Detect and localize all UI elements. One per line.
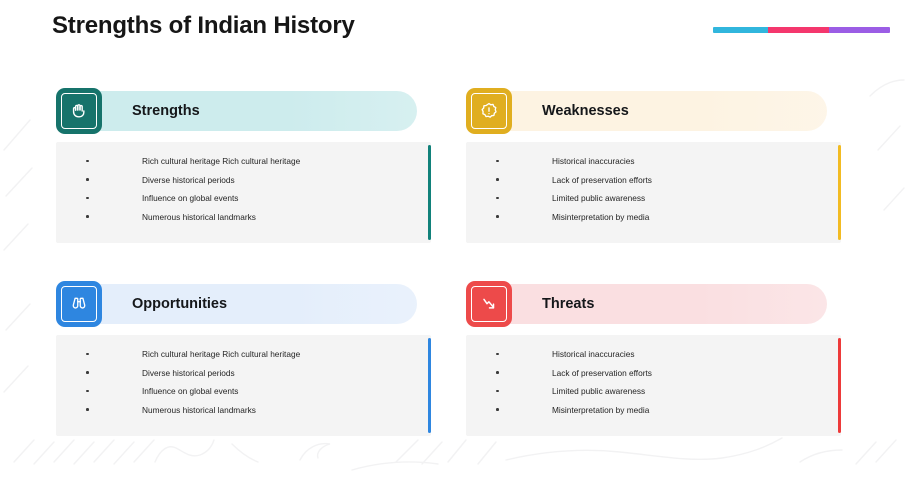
quadrant-strengths: Strengths Rich cultural heritage Rich cu… — [56, 88, 431, 243]
binoculars-icon — [69, 294, 89, 314]
quadrant-title-opportunities: Opportunities — [132, 281, 227, 327]
page-title: Strengths of Indian History — [52, 12, 355, 40]
bullet-list-strengths: Rich cultural heritage Rich cultural her… — [56, 142, 431, 222]
raised-fist-icon — [69, 101, 89, 121]
quadrant-header-weaknesses: Weaknesses — [466, 88, 841, 134]
list-item: Lack of preservation efforts — [466, 175, 841, 185]
quadrant-header-opportunities: Opportunities — [56, 281, 431, 327]
quadrant-card-weaknesses: Historical inaccuracies Lack of preserva… — [466, 142, 841, 243]
list-item: Misinterpretation by media — [466, 212, 841, 222]
list-item: Limited public awareness — [466, 386, 841, 396]
icon-badge-threats — [466, 281, 512, 327]
accent-segment-purple — [829, 27, 890, 33]
accent-segment-pink — [768, 27, 829, 33]
quadrant-threats: Threats Historical inaccuracies Lack of … — [466, 281, 841, 436]
bullet-list-weaknesses: Historical inaccuracies Lack of preserva… — [466, 142, 841, 222]
card-accent-bar-opportunities — [428, 338, 432, 433]
quadrant-opportunities: Opportunities Rich cultural heritage Ric… — [56, 281, 431, 436]
header-pill-strengths — [80, 91, 417, 131]
list-item: Numerous historical landmarks — [56, 212, 431, 222]
list-item: Limited public awareness — [466, 193, 841, 203]
quadrant-card-opportunities: Rich cultural heritage Rich cultural her… — [56, 335, 431, 436]
accent-segment-cyan — [713, 27, 768, 33]
quadrant-card-threats: Historical inaccuracies Lack of preserva… — [466, 335, 841, 436]
icon-badge-inner — [61, 286, 97, 322]
list-item: Historical inaccuracies — [466, 349, 841, 359]
icon-badge-opportunities — [56, 281, 102, 327]
icon-badge-inner — [471, 286, 507, 322]
list-item: Misinterpretation by media — [466, 405, 841, 415]
bullet-list-opportunities: Rich cultural heritage Rich cultural her… — [56, 335, 431, 415]
swot-slide: Strengths of Indian History — [0, 0, 907, 484]
quadrant-header-threats: Threats — [466, 281, 841, 327]
quadrant-title-strengths: Strengths — [132, 88, 200, 134]
card-accent-bar-weaknesses — [838, 145, 842, 240]
header-pill-weaknesses — [490, 91, 827, 131]
header-pill-opportunities — [80, 284, 417, 324]
trend-down-arrow-icon — [479, 294, 499, 314]
quadrant-title-threats: Threats — [542, 281, 594, 327]
header-pill-threats — [490, 284, 827, 324]
list-item: Influence on global events — [56, 386, 431, 396]
decorative-accent-bar — [713, 27, 890, 33]
list-item: Numerous historical landmarks — [56, 405, 431, 415]
icon-badge-inner — [61, 93, 97, 129]
quadrant-header-strengths: Strengths — [56, 88, 431, 134]
icon-badge-strengths — [56, 88, 102, 134]
card-accent-bar-threats — [838, 338, 842, 433]
list-item: Diverse historical periods — [56, 175, 431, 185]
quadrant-card-strengths: Rich cultural heritage Rich cultural her… — [56, 142, 431, 243]
list-item: Rich cultural heritage Rich cultural her… — [56, 349, 431, 359]
quadrant-title-weaknesses: Weaknesses — [542, 88, 629, 134]
card-accent-bar-strengths — [428, 145, 432, 240]
icon-badge-weaknesses — [466, 88, 512, 134]
exclamation-badge-icon — [479, 101, 499, 121]
list-item: Diverse historical periods — [56, 368, 431, 378]
list-item: Rich cultural heritage Rich cultural her… — [56, 156, 431, 166]
quadrant-weaknesses: Weaknesses Historical inaccuracies Lack … — [466, 88, 841, 243]
swot-grid: Strengths Rich cultural heritage Rich cu… — [0, 0, 907, 484]
bullet-list-threats: Historical inaccuracies Lack of preserva… — [466, 335, 841, 415]
icon-badge-inner — [471, 93, 507, 129]
list-item: Influence on global events — [56, 193, 431, 203]
list-item: Historical inaccuracies — [466, 156, 841, 166]
list-item: Lack of preservation efforts — [466, 368, 841, 378]
